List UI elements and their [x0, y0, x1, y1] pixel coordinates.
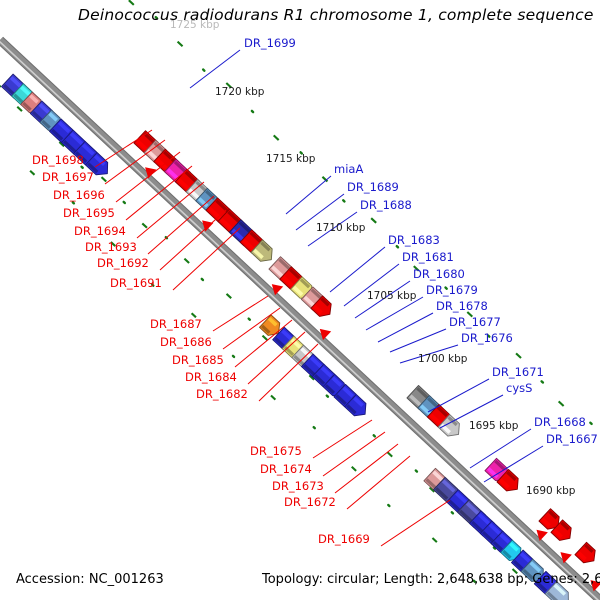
gene-label-dr_1674[interactable]: DR_1674	[260, 462, 312, 476]
gene-label-dr_1686[interactable]: DR_1686	[160, 335, 212, 349]
axis-tick-label: 1690 kbp	[526, 485, 575, 497]
label-leader-line	[335, 444, 398, 493]
label-leader-line	[137, 182, 204, 238]
gene-label-dr_1695[interactable]: DR_1695	[63, 206, 115, 220]
genome-map-viewer: Deinococcus radiodurans R1 chromosome 1,…	[0, 0, 600, 600]
gene-label-dr_1699[interactable]: DR_1699	[244, 36, 296, 50]
page-title: Deinococcus radiodurans R1 chromosome 1,…	[78, 6, 594, 24]
gene-label-dr_1676[interactable]: DR_1676	[461, 331, 513, 345]
axis-tick-label: 1715 kbp	[266, 153, 315, 165]
gene-label-dr_1694[interactable]: DR_1694	[74, 224, 126, 238]
label-leader-line	[381, 500, 450, 546]
gene-label-dr_1672[interactable]: DR_1672	[284, 495, 336, 509]
genome-map-canvas	[0, 0, 600, 600]
gene-label-dr_1698[interactable]: DR_1698	[32, 153, 84, 167]
gene-label-dr_1667[interactable]: DR_1667	[546, 432, 598, 446]
chromosome-backbone	[0, 40, 600, 600]
gene-label-dr_1697[interactable]: DR_1697	[42, 170, 94, 184]
accession-text: Accession: NC_001263	[16, 572, 164, 587]
gene-label-dr_1668[interactable]: DR_1668	[534, 415, 586, 429]
gene-label-dr_1693[interactable]: DR_1693	[85, 240, 137, 254]
gene-label-dr_1679[interactable]: DR_1679	[426, 283, 478, 297]
gene-label-dr_1669[interactable]: DR_1669	[318, 532, 370, 546]
gene-label-dr_1689[interactable]: DR_1689	[347, 180, 399, 194]
label-leader-line	[190, 50, 240, 88]
gene-label-dr_1687[interactable]: DR_1687	[150, 317, 202, 331]
gene-label-dr_1691[interactable]: DR_1691	[110, 276, 162, 290]
gene-label-dr_1677[interactable]: DR_1677	[449, 315, 501, 329]
gene-label-cyss[interactable]: cysS	[506, 381, 532, 395]
gene-label-dr_1685[interactable]: DR_1685	[172, 353, 224, 367]
gene-label-dr_1671[interactable]: DR_1671	[492, 365, 544, 379]
gene-label-dr_1696[interactable]: DR_1696	[53, 188, 105, 202]
gene-label-dr_1688[interactable]: DR_1688	[360, 198, 412, 212]
gene-label-dr_1683[interactable]: DR_1683	[388, 233, 440, 247]
axis-tick-label: 1720 kbp	[215, 86, 264, 98]
gene-label-dr_1682[interactable]: DR_1682	[196, 387, 248, 401]
gene-label-dr_1680[interactable]: DR_1680	[413, 267, 465, 281]
sequence-summary-text: Topology: circular; Length: 2,648,638 bp…	[262, 572, 600, 587]
label-leader-line	[347, 456, 410, 509]
gene-label-dr_1692[interactable]: DR_1692	[97, 256, 149, 270]
label-leader-line	[313, 420, 372, 458]
gene-label-dr_1675[interactable]: DR_1675	[250, 444, 302, 458]
axis-tick-label: 1710 kbp	[316, 222, 365, 234]
label-leader-line	[390, 329, 446, 352]
gene-label-miaa[interactable]: miaA	[334, 162, 363, 176]
gene-label-dr_1681[interactable]: DR_1681	[402, 250, 454, 264]
axis-tick-label: 1725 kbp	[170, 19, 219, 31]
gene-label-dr_1678[interactable]: DR_1678	[436, 299, 488, 313]
label-leader-line	[330, 247, 385, 292]
gene-label-dr_1684[interactable]: DR_1684	[185, 370, 237, 384]
axis-tick-label: 1700 kbp	[418, 353, 467, 365]
label-leader-line	[213, 296, 268, 331]
axis-tick-label: 1695 kbp	[469, 420, 518, 432]
gene-label-dr_1673[interactable]: DR_1673	[272, 479, 324, 493]
axis-tick-label: 1705 kbp	[367, 290, 416, 302]
